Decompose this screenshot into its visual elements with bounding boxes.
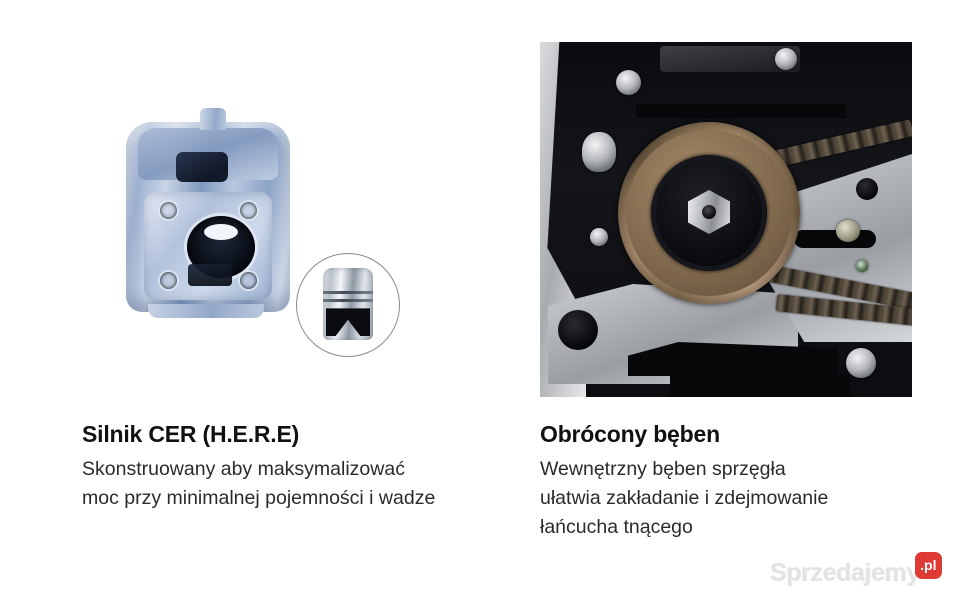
engine-cylinder-photo (60, 60, 500, 390)
cylinder-intake-cavity (176, 152, 228, 182)
feature-title-left: Silnik CER (H.E.R.E) (60, 420, 500, 448)
cylinder-spout (200, 108, 226, 130)
piston-ring (323, 291, 373, 294)
feature-body-line: ułatwia zakładanie i zdejmowanie (540, 484, 940, 513)
feature-column-right: Obrócony bęben Wewnętrzny bęben sprzęgła… (528, 0, 948, 608)
piston-ring (323, 299, 373, 302)
feature-column-left: Silnik CER (H.E.R.E) Skonstruowany aby m… (60, 0, 500, 608)
feature-body-line: Wewnętrzny bęben sprzęgła (540, 455, 940, 484)
cylinder-block-illustration (122, 108, 294, 320)
screw-icon (590, 228, 608, 246)
watermark-domain-badge: .pl (915, 552, 942, 579)
cylinder-bolt-hole (240, 202, 257, 219)
cylinder-base-foot (148, 304, 264, 318)
screw-icon (775, 48, 797, 70)
cylinder-bolt-hole (240, 272, 257, 289)
clutch-center-hole (702, 205, 716, 219)
screw-icon (856, 260, 868, 272)
cylinder-bore-highlight (204, 224, 238, 240)
feature-body-left: Skonstruowany aby maksymalizować moc prz… (60, 455, 500, 513)
plate-hole (558, 310, 598, 350)
watermark-text: Sprzedajemy (770, 558, 920, 588)
piston-inset (296, 253, 400, 357)
guide-bar-slot (794, 230, 876, 248)
screw-icon (616, 70, 641, 95)
clutch-drum-photo (540, 42, 912, 397)
feature-body-line: łańcucha tnącego (540, 513, 940, 542)
cylinder-bolt-hole (160, 272, 177, 289)
cylinder-exhaust-port (188, 264, 232, 286)
slide-canvas: Silnik CER (H.E.R.E) Skonstruowany aby m… (0, 0, 960, 608)
feature-body-line: moc przy minimalnej pojemności i wadze (82, 484, 500, 513)
cylinder-bolt-hole (160, 202, 177, 219)
feature-title-right: Obrócony bęben (540, 420, 940, 448)
housing-dark-block (628, 342, 838, 376)
feature-body-right: Wewnętrzny bęben sprzęgła ułatwia zakład… (540, 455, 940, 542)
watermark: Sprzedajemy .pl (770, 558, 942, 590)
feature-caption-left: Silnik CER (H.E.R.E) Skonstruowany aby m… (60, 420, 500, 513)
cylinder-flange-face (144, 192, 272, 300)
feature-caption-right: Obrócony bęben Wewnętrzny bęben sprzęgła… (540, 420, 940, 542)
screw-icon (846, 348, 876, 378)
feature-body-line: Skonstruowany aby maksymalizować (82, 455, 500, 484)
screw-icon (582, 132, 616, 172)
housing-dark-block (670, 374, 850, 397)
screw-icon (836, 220, 860, 242)
housing-shadow-bar (636, 104, 846, 118)
plate-hole (856, 178, 878, 200)
